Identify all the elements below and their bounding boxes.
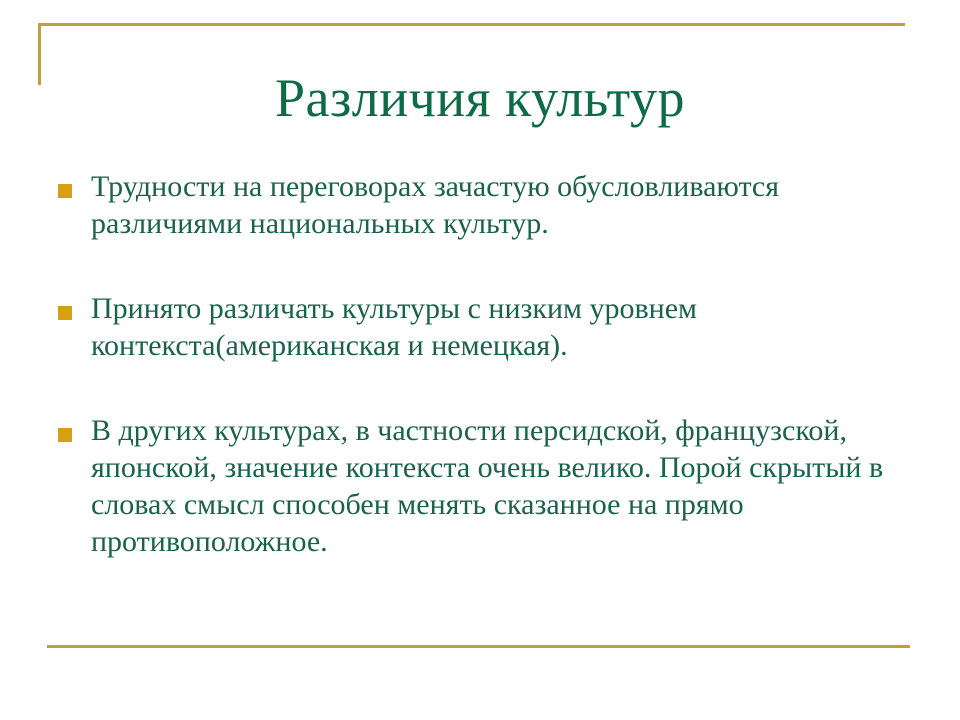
list-item: В других культурах, в частности персидск… [58, 412, 906, 560]
bottom-gold-rule [47, 645, 910, 648]
slide-title: Различия культур [0, 68, 960, 128]
square-bullet-icon [58, 428, 72, 442]
top-gold-rule [38, 23, 905, 26]
slide: Различия культур Трудности на переговора… [0, 0, 960, 720]
bullet-text: В других культурах, в частности персидск… [91, 412, 906, 560]
list-item: Принято различать культуры с низким уров… [58, 290, 906, 364]
bullet-list: Трудности на переговорах зачастую обусло… [58, 168, 906, 560]
list-item: Трудности на переговорах зачастую обусло… [58, 168, 906, 242]
bullet-text: Трудности на переговорах зачастую обусло… [91, 168, 881, 242]
bullet-text: Принято различать культуры с низким уров… [91, 290, 791, 364]
square-bullet-icon [58, 184, 72, 198]
square-bullet-icon [58, 306, 72, 320]
